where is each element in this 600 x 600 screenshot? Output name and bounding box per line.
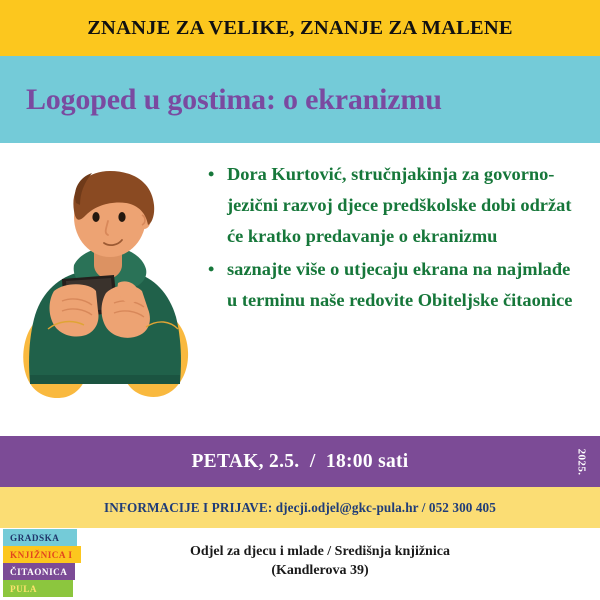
logo-line-pula: PULA: [3, 580, 73, 597]
logo-line-knjiznica: KNJIŽNICA I: [3, 546, 81, 563]
info-bullet-list: Dora Kurtović, stručnjakinja za govorno-…: [205, 159, 577, 318]
logo-line-gradska: GRADSKA: [3, 529, 77, 546]
list-item: Dora Kurtović, stručnjakinja za govorno-…: [205, 159, 577, 252]
library-logo: GRADSKA KNJIŽNICA I ČITAONICA PULA: [3, 529, 81, 597]
venue-address-line-2: (Kandlerova 39): [110, 561, 530, 580]
event-year: 2025.: [576, 448, 588, 475]
header-band: ZNANJE ZA VELIKE, ZNANJE ZA MALENE: [0, 0, 600, 56]
title-band: Logoped u gostima: o ekranizmu: [0, 56, 600, 143]
contact-info: INFORMACIJE I PRIJAVE: djecji.odjel@gkc-…: [104, 500, 496, 516]
event-datetime: PETAK, 2.5. / 18:00 sati: [191, 451, 408, 473]
person-holding-smartphone-illustration: [18, 161, 194, 423]
contact-band: INFORMACIJE I PRIJAVE: djecji.odjel@gkc-…: [0, 487, 600, 528]
logo-line-citaonica: ČITAONICA: [3, 563, 75, 580]
venue-address-line-1: Odjel za djecu i mlade / Središnja knjiž…: [110, 542, 530, 561]
list-item: saznajte više o utjecaju ekrana na najml…: [205, 254, 577, 316]
main-content: Dora Kurtović, stručnjakinja za govorno-…: [0, 143, 600, 436]
poster-root: ZNANJE ZA VELIKE, ZNANJE ZA MALENE Logop…: [0, 0, 600, 600]
page-title: Logoped u gostima: o ekranizmu: [0, 83, 442, 117]
venue-address: Odjel za djecu i mlade / Središnja knjiž…: [110, 542, 530, 580]
header-tagline: ZNANJE ZA VELIKE, ZNANJE ZA MALENE: [87, 17, 513, 40]
date-band: PETAK, 2.5. / 18:00 sati 2025.: [0, 436, 600, 487]
footer: GRADSKA KNJIŽNICA I ČITAONICA PULA Odjel…: [0, 528, 600, 600]
